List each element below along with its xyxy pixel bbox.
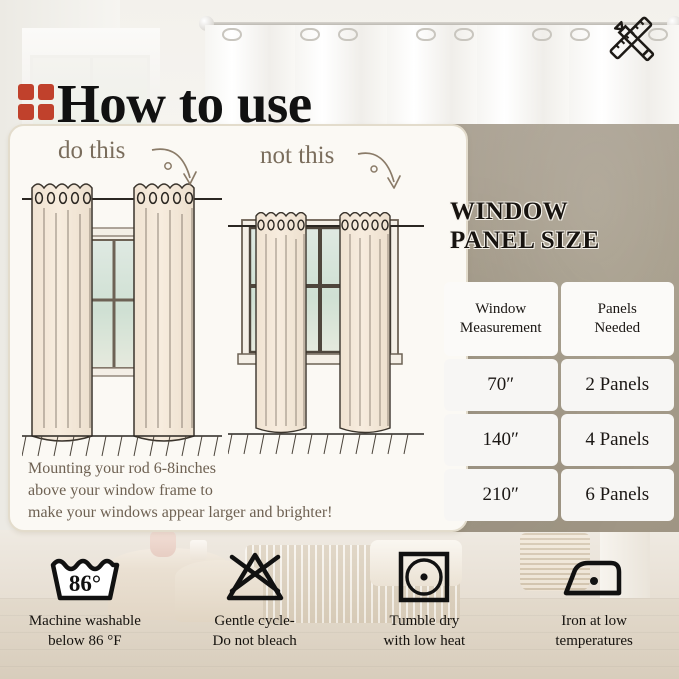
table-header-panels-line2: Needed <box>594 319 640 338</box>
caption-line-3: make your windows appear larger and brig… <box>28 502 428 524</box>
wash-temp-value: 86° <box>69 571 101 596</box>
care-label-line2: Do not bleach <box>213 632 297 652</box>
pencil-ruler-icon <box>605 12 663 70</box>
table-row: 6 Panels <box>561 469 675 521</box>
do-this-illustration <box>22 168 222 460</box>
page-title: How to use <box>57 76 312 131</box>
care-item-tumble-dry: Tumble dry with low heat <box>340 548 510 673</box>
care-label-line1: Gentle cycle- <box>213 612 297 632</box>
table-header-measurement-line2: Measurement <box>460 319 542 338</box>
no-bleach-triangle-icon <box>224 548 286 606</box>
header: How to use <box>0 34 679 116</box>
do-this-label: do this <box>58 137 125 165</box>
table-row: 2 Panels <box>561 359 675 411</box>
not-this-illustration <box>228 212 424 460</box>
care-label-line1: Iron at low <box>555 612 632 632</box>
window-pane-quadrant <box>18 104 34 120</box>
table-row: 140″ <box>444 414 558 466</box>
care-item-machine-wash: 86° Machine washable below 86 °F <box>0 548 170 673</box>
caption-line-2: above your window frame to <box>28 480 428 502</box>
infographic-page: How to use WINDOW PANEL SIZE Window Meas… <box>0 0 679 679</box>
table-header-panels: Panels Needed <box>561 282 675 356</box>
care-label-line2: below 86 °F <box>29 632 141 652</box>
care-item-no-bleach: Gentle cycle- Do not bleach <box>170 548 340 673</box>
window-pane-quadrant <box>18 84 34 100</box>
curved-arrow-down-icon <box>148 144 208 192</box>
panel-heading-line2: PANEL SIZE <box>450 227 675 256</box>
window-pane-quadrant <box>38 84 54 100</box>
care-label-no-bleach: Gentle cycle- Do not bleach <box>213 612 297 652</box>
caption-line-1: Mounting your rod 6-8inches <box>28 458 428 480</box>
panel-heading: WINDOW PANEL SIZE <box>450 198 675 256</box>
care-label-line2: temperatures <box>555 632 632 652</box>
care-instructions-row: 86° Machine washable below 86 °F Gentle … <box>0 548 679 673</box>
wash-tub-86-icon: 86° <box>48 548 122 606</box>
panel-heading-line1: WINDOW <box>450 198 675 227</box>
care-label-tumble-dry: Tumble dry with low heat <box>384 612 466 652</box>
not-this-label: not this <box>260 142 334 170</box>
window-pane-icon <box>18 84 54 120</box>
care-label-line1: Machine washable <box>29 612 141 632</box>
iron-low-icon <box>561 548 627 606</box>
care-label-line2: with low heat <box>384 632 466 652</box>
care-label-line1: Tumble dry <box>384 612 466 632</box>
care-item-iron-low: Iron at low temperatures <box>509 548 679 673</box>
tumble-dry-low-icon <box>397 548 451 606</box>
table-header-measurement-line1: Window <box>460 300 542 319</box>
table-row: 70″ <box>444 359 558 411</box>
table-row: 4 Panels <box>561 414 675 466</box>
care-label-machine-wash: Machine washable below 86 °F <box>29 612 141 652</box>
table-row: 210″ <box>444 469 558 521</box>
window-panel-size-table: Window Measurement Panels Needed 70″ 2 P… <box>444 282 674 514</box>
curved-arrow-down-icon <box>356 148 408 196</box>
table-header-measurement: Window Measurement <box>444 282 558 356</box>
care-label-iron-low: Iron at low temperatures <box>555 612 632 652</box>
table-header-panels-line1: Panels <box>594 300 640 319</box>
mounting-caption: Mounting your rod 6-8inches above your w… <box>28 458 428 524</box>
window-pane-quadrant <box>38 104 54 120</box>
